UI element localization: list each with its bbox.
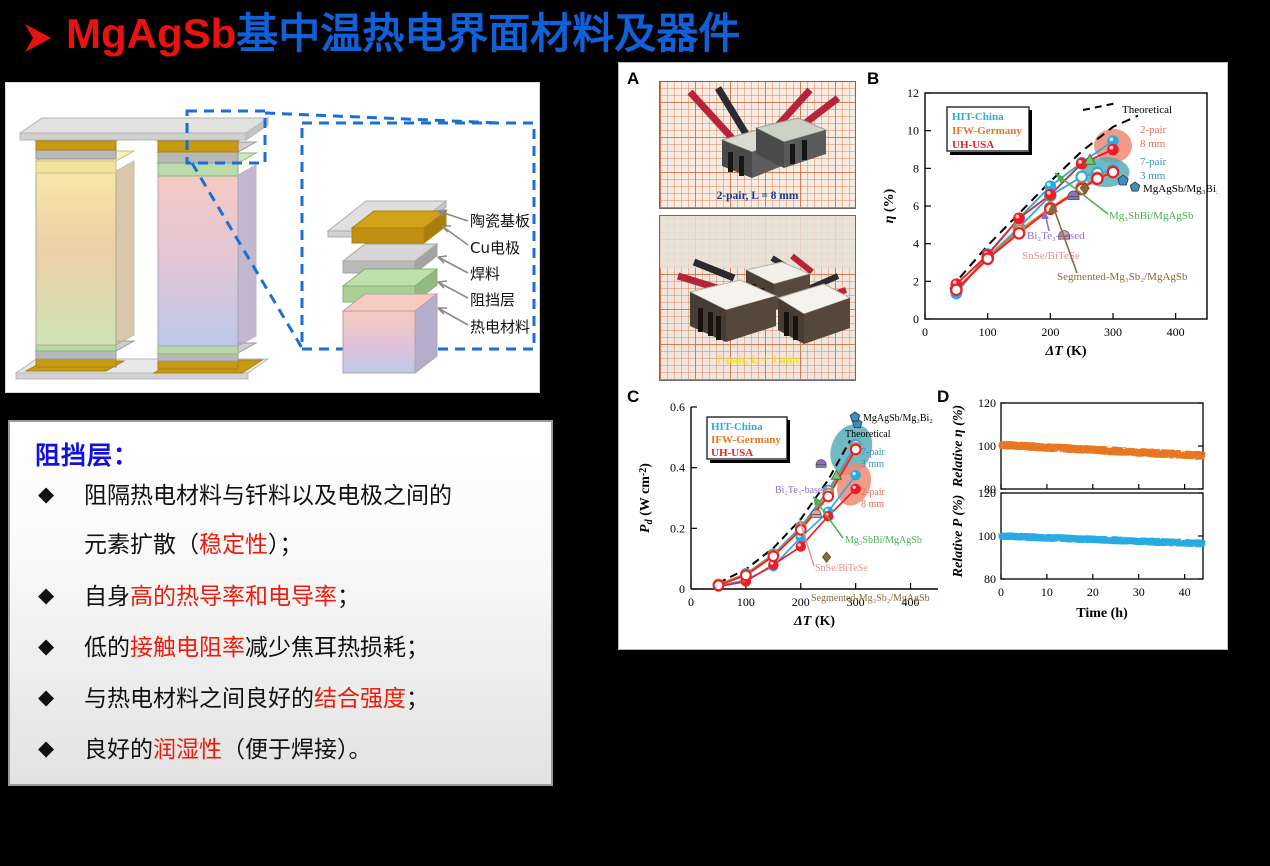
svg-text:20: 20 — [1087, 585, 1099, 599]
diamond-bullet-icon: ◆ — [38, 633, 54, 661]
list-item-continuation: 元素扩散（稳定性）； — [84, 530, 303, 558]
svg-text:0.2: 0.2 — [670, 521, 685, 535]
svg-text:200: 200 — [1041, 325, 1059, 339]
list-item-text: 阻隔热电材料与钎料以及电极之间的 — [84, 481, 452, 509]
module-structure-diagram: 陶瓷基板 Cu电极 焊料 阻挡层 热电材料 — [5, 82, 540, 393]
svg-text:2-pair: 2-pair — [861, 487, 886, 498]
top-ceramic-plate — [20, 118, 268, 140]
svg-text:8 mm: 8 mm — [1140, 138, 1166, 150]
svg-text:Segmented-Mg₃Sb₂/MgAgSb: Segmented-Mg₃Sb₂/MgAgSb — [811, 593, 930, 604]
svg-text:UH-USA: UH-USA — [952, 139, 994, 151]
svg-text:100: 100 — [979, 325, 997, 339]
layer-label-te-material: 热电材料 — [470, 318, 530, 336]
svg-text:SnSe/BiTeSe: SnSe/BiTeSe — [815, 563, 868, 574]
svg-text:0: 0 — [679, 582, 685, 596]
svg-text:0: 0 — [688, 595, 694, 609]
svg-text:ΔT (K): ΔT (K) — [1044, 344, 1086, 359]
list-item-text-highlight: 高的热导率和电导率 — [130, 583, 337, 609]
svg-text:400: 400 — [1167, 325, 1185, 339]
list-item-text-highlight: 润湿性 — [153, 736, 222, 762]
device-photo-7pair: 7-pair, L = 3 mm — [659, 215, 856, 381]
svg-text:Bi₂Te₃-based: Bi₂Te₃-based — [775, 485, 827, 496]
svg-text:2-pair: 2-pair — [1140, 124, 1167, 136]
svg-text:ΔT (K): ΔT (K) — [793, 614, 835, 629]
device-photo-2pair: 2-pair, L = 8 mm — [659, 81, 856, 209]
list-item-text: 良好的润湿性（便于焊接）。 — [84, 735, 372, 763]
svg-text:Relative η (%): Relative η (%) — [951, 405, 966, 488]
svg-text:10: 10 — [907, 124, 919, 138]
svg-text:UH-USA: UH-USA — [711, 447, 753, 459]
svg-text:30: 30 — [1133, 585, 1145, 599]
page-title-red: MgAgSb — [66, 10, 236, 57]
layer-label-cu-electrode: Cu电极 — [470, 239, 520, 257]
photo-caption-7pair: 7-pair, L = 3 mm — [660, 354, 855, 366]
chart-panel-b: 0246810120100200300400η (%)ΔT (K)HIT-Chi… — [877, 67, 1217, 387]
svg-text:IFW-Germany: IFW-Germany — [711, 434, 781, 446]
svg-text:0.6: 0.6 — [670, 400, 685, 414]
layer-label-ceramic-substrate: 陶瓷基板 — [470, 212, 530, 230]
svg-text:8 mm: 8 mm — [861, 499, 884, 510]
panel-letter-a: A — [627, 69, 639, 89]
svg-text:100: 100 — [978, 439, 996, 453]
svg-text:120: 120 — [978, 396, 996, 410]
diamond-bullet-icon: ◆ — [38, 735, 54, 763]
svg-text:Bi₂Te₃-based: Bi₂Te₃-based — [1027, 230, 1085, 242]
chart-panel-d: 8010012080100120010203040Time (h)Relativ… — [945, 385, 1225, 647]
svg-text:MgAgSb/Mg₃Bi₂: MgAgSb/Mg₃Bi₂ — [863, 413, 933, 424]
slide-title-bar: MgAgSb基中温热电界面材料及器件 — [0, 4, 820, 64]
svg-text:7-pair: 7-pair — [861, 447, 886, 458]
results-figure: A 2-pair, L = 8 mm — [618, 62, 1228, 650]
layer-leader-arrows — [438, 210, 468, 325]
svg-text:HIT-China: HIT-China — [711, 421, 763, 433]
layer-label-solder: 焊料 — [470, 265, 500, 283]
diamond-bullet-icon: ◆ — [38, 481, 54, 509]
photo-caption-2pair: 2-pair, L = 8 mm — [660, 190, 855, 202]
svg-text:300: 300 — [1104, 325, 1122, 339]
svg-text:4: 4 — [913, 237, 919, 251]
svg-text:Time (h): Time (h) — [1076, 606, 1128, 621]
svg-text:8: 8 — [913, 161, 919, 175]
page-title-blue: 基中温热电界面材料及器件 — [236, 10, 740, 57]
svg-text:10: 10 — [1041, 585, 1053, 599]
svg-text:80: 80 — [984, 572, 996, 586]
list-item-text-b: ）； — [268, 531, 303, 557]
barrier-layer-requirements-box: 阻挡层： ◆ 阻隔热电材料与钎料以及电极之间的 元素扩散（稳定性）； ◆ 自身高… — [8, 420, 553, 786]
svg-text:12: 12 — [907, 86, 919, 100]
svg-text:0: 0 — [922, 325, 928, 339]
svg-text:IFW-Germany: IFW-Germany — [952, 125, 1022, 137]
svg-text:120: 120 — [978, 486, 996, 500]
arrow-right-bullet-icon — [22, 22, 56, 54]
svg-text:3 mm: 3 mm — [1140, 170, 1166, 182]
svg-text:100: 100 — [737, 595, 755, 609]
svg-text:0.4: 0.4 — [670, 461, 685, 475]
svg-text:Pd (W cm-2): Pd (W cm-2) — [638, 463, 655, 533]
svg-text:Mg₃SbBi/MgAgSb: Mg₃SbBi/MgAgSb — [845, 535, 922, 546]
exploded-layer-stack — [328, 201, 446, 373]
list-item-text-highlight: 稳定性 — [199, 531, 268, 557]
svg-text:Theoretical: Theoretical — [1122, 104, 1172, 116]
thermoelectric-leg-left — [26, 131, 134, 371]
svg-text:2: 2 — [913, 274, 919, 288]
svg-text:100: 100 — [978, 529, 996, 543]
svg-text:0: 0 — [913, 312, 919, 326]
diamond-bullet-icon: ◆ — [38, 684, 54, 712]
svg-text:MgAgSb/Mg₃Bi₂: MgAgSb/Mg₃Bi₂ — [1143, 183, 1217, 195]
list-item-text: 与热电材料之间良好的结合强度； — [84, 684, 429, 712]
list-item-text-a: 元素扩散（ — [84, 531, 199, 557]
svg-text:Theoretical: Theoretical — [845, 429, 891, 440]
list-item-text-highlight: 结合强度 — [314, 685, 406, 711]
chart-panel-c: 00.20.40.60100200300400Pd (W cm-2)ΔT (K)… — [633, 385, 951, 647]
svg-text:0: 0 — [998, 585, 1004, 599]
list-item-text: 自身高的热导率和电导率； — [84, 582, 360, 610]
list-item-text-highlight: 接触电阻率 — [130, 634, 245, 660]
svg-text:HIT-China: HIT-China — [952, 111, 1004, 123]
svg-text:η (%): η (%) — [882, 188, 897, 223]
svg-text:6: 6 — [913, 199, 919, 213]
svg-text:3 mm: 3 mm — [861, 459, 884, 470]
page-title: MgAgSb基中温热电界面材料及器件 — [66, 10, 740, 58]
layer-label-barrier: 阻挡层 — [470, 291, 515, 309]
svg-text:200: 200 — [792, 595, 810, 609]
svg-text:7-pair: 7-pair — [1140, 156, 1167, 168]
diamond-bullet-icon: ◆ — [38, 582, 54, 610]
svg-text:40: 40 — [1179, 585, 1191, 599]
svg-text:Mg₃SbBi/MgAgSb: Mg₃SbBi/MgAgSb — [1109, 210, 1194, 222]
list-item-text: 低的接触电阻率减少焦耳热损耗； — [84, 633, 429, 661]
svg-text:Relative P (%): Relative P (%) — [951, 495, 966, 579]
textbox-heading: 阻挡层： — [35, 436, 139, 472]
